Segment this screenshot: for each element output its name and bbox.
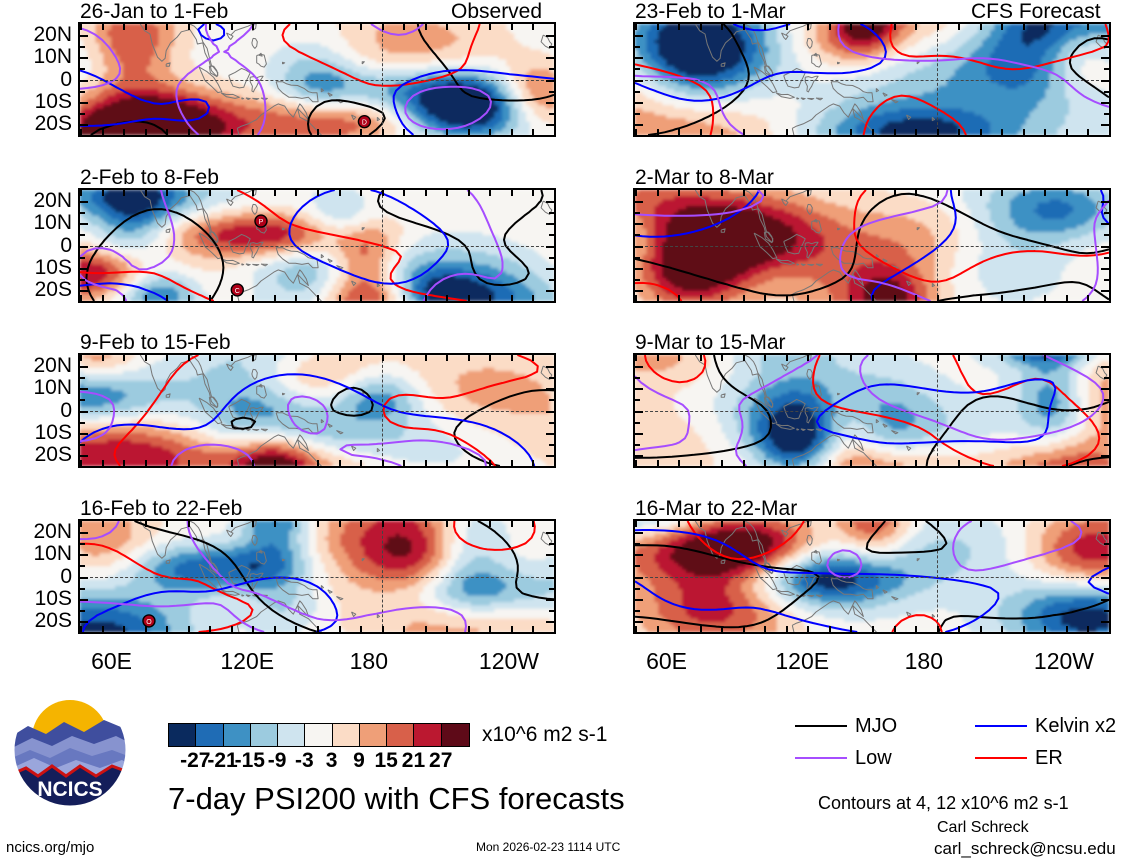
y-tick xyxy=(79,68,85,70)
x-tick xyxy=(209,520,211,527)
y-axis-label: 20S xyxy=(2,610,72,631)
y-tick xyxy=(549,610,555,612)
x-tick xyxy=(80,460,82,467)
legend-item-er: ER xyxy=(975,748,1063,768)
y-tick xyxy=(79,268,88,270)
x-tick xyxy=(635,23,637,30)
y-tick xyxy=(546,268,555,270)
y-tick xyxy=(546,57,555,59)
x-tick xyxy=(102,189,104,196)
x-tick xyxy=(317,189,319,196)
x-tick xyxy=(209,23,211,30)
x-tick xyxy=(188,626,190,633)
x-tick xyxy=(339,295,341,302)
x-tick xyxy=(1087,460,1089,467)
map-panel-r3c1[interactable] xyxy=(633,519,1111,634)
colorbar-cell-6[interactable] xyxy=(333,724,360,746)
x-tick xyxy=(102,129,104,136)
y-tick xyxy=(549,234,555,236)
x-tick xyxy=(1087,189,1089,196)
y-tick xyxy=(79,411,88,413)
y-tick xyxy=(549,543,555,545)
x-tick xyxy=(894,295,896,302)
panel-title-r2c0: 9-Feb to 15-Feb xyxy=(80,332,231,353)
y-tick xyxy=(1101,532,1110,534)
y-tick xyxy=(634,543,640,545)
map-panel-r2c1[interactable] xyxy=(633,353,1111,468)
x-tick xyxy=(403,354,405,361)
x-axis-label: 120E xyxy=(775,650,829,673)
x-tick xyxy=(554,520,556,527)
x-tick xyxy=(382,295,384,302)
x-tick xyxy=(1087,23,1089,30)
y-tick xyxy=(1101,599,1110,601)
y-tick xyxy=(634,57,643,59)
x-tick xyxy=(360,189,362,196)
x-tick xyxy=(532,23,534,30)
x-tick xyxy=(1066,23,1068,30)
y-tick xyxy=(1101,554,1110,556)
x-tick xyxy=(295,129,297,136)
x-tick xyxy=(894,460,896,467)
x-tick xyxy=(489,520,491,527)
x-tick xyxy=(231,520,233,527)
y-tick xyxy=(634,234,640,236)
y-tick xyxy=(1101,246,1110,248)
x-tick xyxy=(446,129,448,136)
dateline-marker xyxy=(382,24,383,135)
x-tick xyxy=(657,626,659,633)
x-axis-label: 180 xyxy=(350,650,388,673)
x-tick xyxy=(1109,626,1111,633)
map-panel-r0c0[interactable]: D xyxy=(78,22,556,137)
x-tick xyxy=(80,626,82,633)
x-tick xyxy=(980,295,982,302)
colorbar-cell-5[interactable] xyxy=(305,724,332,746)
colorbar-cell-2[interactable] xyxy=(224,724,251,746)
x-tick xyxy=(102,23,104,30)
x-tick xyxy=(1044,129,1046,136)
y-tick xyxy=(1101,124,1110,126)
x-tick xyxy=(425,460,427,467)
ncics-logo[interactable]: NCICS xyxy=(12,692,128,808)
x-tick xyxy=(764,295,766,302)
y-tick xyxy=(1104,234,1110,236)
y-tick xyxy=(79,102,88,104)
y-tick xyxy=(634,102,643,104)
x-tick xyxy=(554,295,556,302)
x-tick xyxy=(145,460,147,467)
x-tick xyxy=(123,295,125,302)
x-tick xyxy=(700,23,702,30)
x-tick xyxy=(339,354,341,361)
y-tick xyxy=(546,455,555,457)
x-tick xyxy=(700,626,702,633)
x-tick xyxy=(425,189,427,196)
y-tick xyxy=(549,377,555,379)
x-tick xyxy=(166,354,168,361)
y-tick xyxy=(1101,201,1110,203)
x-tick xyxy=(872,354,874,361)
x-tick xyxy=(554,189,556,196)
x-tick xyxy=(635,189,637,196)
dateline-marker xyxy=(937,24,938,135)
y-tick xyxy=(634,433,643,435)
x-tick xyxy=(489,295,491,302)
y-tick xyxy=(546,201,555,203)
x-tick xyxy=(295,460,297,467)
y-tick xyxy=(634,411,643,413)
x-tick xyxy=(700,520,702,527)
x-tick xyxy=(425,295,427,302)
x-tick xyxy=(829,626,831,633)
x-tick xyxy=(1001,23,1003,30)
x-tick xyxy=(252,129,254,136)
y-tick xyxy=(1101,411,1110,413)
x-tick xyxy=(958,626,960,633)
colorbar-cell-1[interactable] xyxy=(196,724,223,746)
x-tick xyxy=(80,520,82,527)
x-tick xyxy=(339,23,341,30)
y-tick xyxy=(79,610,85,612)
x-tick xyxy=(1087,520,1089,527)
y-tick xyxy=(546,124,555,126)
x-tick xyxy=(764,354,766,361)
x-tick xyxy=(209,189,211,196)
low-line-swatch xyxy=(795,757,847,759)
x-tick xyxy=(678,626,680,633)
x-tick xyxy=(894,626,896,633)
y-tick xyxy=(1101,57,1110,59)
y-tick xyxy=(546,532,555,534)
equator-line xyxy=(635,411,1109,412)
x-tick xyxy=(786,295,788,302)
map-panel-r3c0[interactable]: O xyxy=(78,519,556,634)
x-tick xyxy=(188,354,190,361)
site-url[interactable]: ncics.org/mjo xyxy=(6,840,94,855)
colorbar-cell-7[interactable] xyxy=(360,724,387,746)
panel-title-r1c1: 2-Mar to 8-Mar xyxy=(635,167,774,188)
y-tick xyxy=(1104,399,1110,401)
panel-title-r1c0: 2-Feb to 8-Feb xyxy=(80,167,219,188)
y-tick xyxy=(79,554,88,556)
x-tick xyxy=(295,23,297,30)
y-tick xyxy=(546,621,555,623)
y-tick xyxy=(549,588,555,590)
y-axis-label: 10S xyxy=(2,91,72,112)
equator-line xyxy=(80,577,554,578)
legend-label-er: ER xyxy=(1035,748,1063,768)
x-tick xyxy=(786,626,788,633)
x-tick xyxy=(468,189,470,196)
map-panel-r1c0[interactable]: PC xyxy=(78,188,556,303)
x-tick xyxy=(80,189,82,196)
x-tick xyxy=(635,295,637,302)
kelvin-line-swatch xyxy=(975,725,1027,727)
map-panel-r1c1[interactable] xyxy=(633,188,1111,303)
x-tick xyxy=(657,129,659,136)
x-tick xyxy=(425,23,427,30)
y-tick xyxy=(549,46,555,48)
x-tick xyxy=(145,23,147,30)
x-tick xyxy=(850,189,852,196)
x-tick xyxy=(360,626,362,633)
x-tick xyxy=(721,295,723,302)
y-tick xyxy=(1101,577,1110,579)
y-tick xyxy=(79,246,88,248)
x-tick xyxy=(700,129,702,136)
x-tick xyxy=(635,354,637,361)
x-tick xyxy=(786,520,788,527)
y-tick xyxy=(549,279,555,281)
x-tick xyxy=(382,189,384,196)
x-tick xyxy=(1044,189,1046,196)
x-tick xyxy=(958,520,960,527)
y-tick xyxy=(1101,268,1110,270)
equator-line xyxy=(635,80,1109,81)
y-tick xyxy=(1104,113,1110,115)
x-tick xyxy=(511,295,513,302)
x-tick xyxy=(532,295,534,302)
panel-title-r3c1: 16-Mar to 22-Mar xyxy=(635,498,797,519)
x-tick xyxy=(850,129,852,136)
y-axis-label: 0 xyxy=(2,235,72,256)
y-tick xyxy=(634,444,640,446)
x-tick xyxy=(1001,129,1003,136)
x-tick xyxy=(274,354,276,361)
x-tick xyxy=(123,626,125,633)
colorbar-cell-0[interactable] xyxy=(169,724,196,746)
y-tick xyxy=(1104,377,1110,379)
x-tick xyxy=(468,23,470,30)
x-tick xyxy=(231,460,233,467)
y-tick xyxy=(634,113,640,115)
equator-line xyxy=(80,80,554,81)
x-tick xyxy=(80,129,82,136)
dateline-marker xyxy=(382,355,383,466)
x-tick xyxy=(274,520,276,527)
y-axis-label: 10N xyxy=(2,377,72,398)
y-tick xyxy=(546,411,555,413)
x-tick xyxy=(123,460,125,467)
x-tick xyxy=(937,129,939,136)
x-tick xyxy=(937,23,939,30)
x-tick xyxy=(980,129,982,136)
x-tick xyxy=(511,460,513,467)
x-tick xyxy=(1066,520,1068,527)
y-tick xyxy=(79,377,85,379)
y-tick xyxy=(79,399,85,401)
y-tick xyxy=(1104,91,1110,93)
er-line-swatch xyxy=(975,757,1027,759)
x-tick xyxy=(554,129,556,136)
equator-line xyxy=(635,577,1109,578)
colorbar-cell-10[interactable] xyxy=(442,724,469,746)
x-tick xyxy=(511,626,513,633)
x-tick xyxy=(295,354,297,361)
y-tick xyxy=(546,433,555,435)
x-tick xyxy=(829,189,831,196)
y-tick xyxy=(79,366,88,368)
y-tick xyxy=(634,80,643,82)
colorbar-cell-8[interactable] xyxy=(387,724,414,746)
y-axis-label: 10S xyxy=(2,257,72,278)
y-axis-label: 20N xyxy=(2,521,72,542)
column-header-observed: Observed xyxy=(451,1,542,22)
x-tick xyxy=(511,354,513,361)
colorbar-cell-4[interactable] xyxy=(278,724,305,746)
y-tick xyxy=(634,577,643,579)
y-tick xyxy=(634,377,640,379)
x-tick xyxy=(446,189,448,196)
x-tick xyxy=(1023,626,1025,633)
x-axis-label: 120E xyxy=(220,650,274,673)
x-tick xyxy=(657,23,659,30)
dateline-marker xyxy=(382,521,383,632)
x-tick xyxy=(872,23,874,30)
x-tick xyxy=(980,23,982,30)
x-tick xyxy=(317,626,319,633)
x-tick xyxy=(1001,626,1003,633)
x-tick xyxy=(743,23,745,30)
tropical-cyclone-marker: D xyxy=(358,116,370,128)
x-tick xyxy=(231,129,233,136)
x-tick xyxy=(937,295,939,302)
y-tick xyxy=(634,268,643,270)
y-tick xyxy=(549,113,555,115)
y-tick xyxy=(634,599,643,601)
x-tick xyxy=(252,295,254,302)
x-tick xyxy=(252,520,254,527)
y-tick xyxy=(1101,35,1110,37)
x-tick xyxy=(274,626,276,633)
x-tick xyxy=(915,189,917,196)
x-tick xyxy=(554,354,556,361)
x-tick xyxy=(317,460,319,467)
x-tick xyxy=(915,626,917,633)
y-tick xyxy=(1104,212,1110,214)
x-tick xyxy=(786,354,788,361)
x-tick xyxy=(915,460,917,467)
y-tick xyxy=(634,610,640,612)
x-tick xyxy=(958,295,960,302)
x-tick xyxy=(1023,129,1025,136)
x-tick xyxy=(872,129,874,136)
x-tick xyxy=(1066,129,1068,136)
page-title: 7-day PSI200 with CFS forecasts xyxy=(168,783,625,814)
x-tick xyxy=(721,626,723,633)
x-tick xyxy=(511,129,513,136)
x-tick xyxy=(339,129,341,136)
x-tick xyxy=(382,460,384,467)
dateline-marker xyxy=(937,355,938,466)
map-panel-r0c1[interactable] xyxy=(633,22,1111,137)
x-tick xyxy=(721,354,723,361)
x-tick xyxy=(80,295,82,302)
x-tick xyxy=(1044,295,1046,302)
x-tick xyxy=(721,23,723,30)
legend-label-low: Low xyxy=(855,748,892,768)
legend-item-mjo: MJO xyxy=(795,716,897,736)
x-tick xyxy=(635,520,637,527)
map-panel-r2c0[interactable] xyxy=(78,353,556,468)
x-tick xyxy=(721,189,723,196)
y-tick xyxy=(79,433,88,435)
colorbar[interactable] xyxy=(168,723,470,747)
x-tick xyxy=(274,189,276,196)
y-tick xyxy=(634,46,640,48)
x-tick xyxy=(915,354,917,361)
x-axis-label: 180 xyxy=(905,650,943,673)
x-tick xyxy=(209,295,211,302)
y-tick xyxy=(634,257,640,259)
x-tick xyxy=(807,295,809,302)
logo-wordmark: NCICS xyxy=(37,778,102,801)
x-tick xyxy=(532,626,534,633)
colorbar-cell-9[interactable] xyxy=(414,724,441,746)
x-tick xyxy=(446,520,448,527)
y-tick xyxy=(634,621,643,623)
figure-root: 26-Jan to 1-FebObservedD20N10N010S20S23-… xyxy=(0,0,1135,860)
x-tick xyxy=(425,129,427,136)
y-tick xyxy=(79,455,88,457)
y-tick xyxy=(79,113,85,115)
x-tick xyxy=(468,626,470,633)
y-tick xyxy=(634,290,643,292)
y-tick xyxy=(79,212,85,214)
x-tick xyxy=(360,354,362,361)
y-axis-label: 0 xyxy=(2,69,72,90)
x-tick xyxy=(1001,520,1003,527)
y-tick xyxy=(79,388,88,390)
x-tick xyxy=(511,189,513,196)
x-tick xyxy=(252,189,254,196)
dateline-marker xyxy=(937,521,938,632)
x-tick xyxy=(1109,295,1111,302)
x-tick xyxy=(360,129,362,136)
author-email: carl_schreck@ncsu.edu xyxy=(934,840,1116,857)
x-tick xyxy=(166,23,168,30)
colorbar-cell-3[interactable] xyxy=(251,724,278,746)
y-tick xyxy=(549,444,555,446)
panel-title-r0c0: 26-Jan to 1-Feb xyxy=(80,1,228,22)
x-tick xyxy=(1109,129,1111,136)
x-tick xyxy=(295,295,297,302)
panel-title-r2c1: 9-Mar to 15-Mar xyxy=(635,332,786,353)
x-tick xyxy=(339,520,341,527)
x-tick xyxy=(425,626,427,633)
colorbar-units-label: x10^6 m2 s-1 xyxy=(482,724,607,745)
x-tick xyxy=(252,460,254,467)
x-tick xyxy=(1044,23,1046,30)
x-tick xyxy=(231,189,233,196)
y-tick xyxy=(549,257,555,259)
y-axis-label: 10N xyxy=(2,46,72,67)
x-tick xyxy=(554,23,556,30)
y-tick xyxy=(546,366,555,368)
x-tick xyxy=(764,129,766,136)
x-tick xyxy=(403,626,405,633)
y-axis-label: 10S xyxy=(2,588,72,609)
x-tick xyxy=(743,295,745,302)
x-tick xyxy=(678,189,680,196)
x-tick xyxy=(209,129,211,136)
x-tick xyxy=(382,129,384,136)
y-axis-label: 20S xyxy=(2,279,72,300)
x-tick xyxy=(764,626,766,633)
x-tick xyxy=(166,460,168,467)
x-tick xyxy=(937,354,939,361)
